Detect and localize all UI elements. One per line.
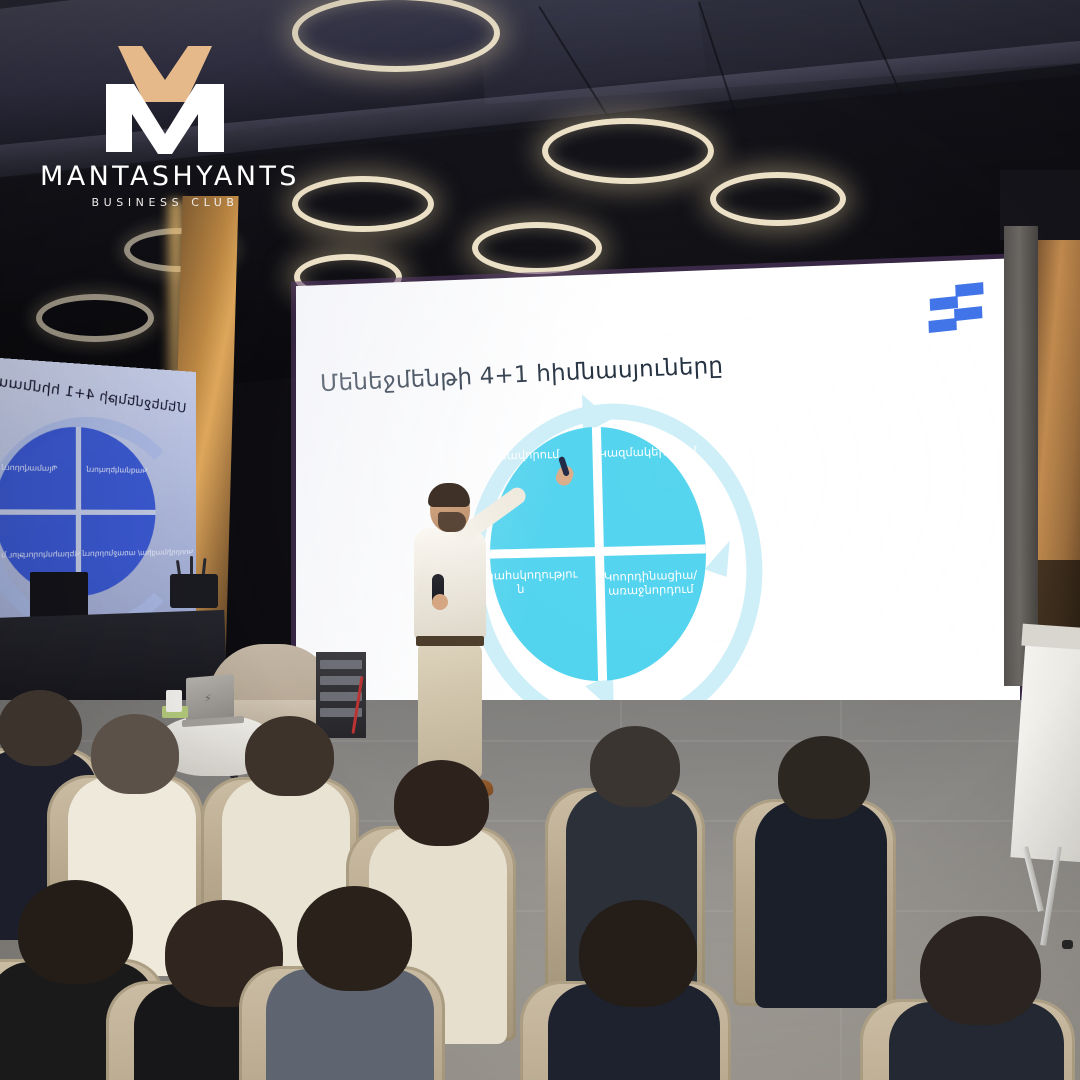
- presenter-hand: [432, 594, 448, 610]
- audience-head: [18, 880, 133, 984]
- watermark-logo: MANTASHYANTS BUSINESS CLUB: [40, 40, 290, 230]
- audience-head: [394, 760, 489, 846]
- audience-head: [590, 726, 680, 807]
- audience-head: [920, 916, 1041, 1025]
- watermark-brand-name: MANTASHYANTS: [40, 161, 290, 192]
- slide-brand-mark-icon: [929, 283, 985, 331]
- presenter-hair: [428, 483, 470, 507]
- secondary-quadrant-label-tl: Պլանավորում: [1, 463, 57, 473]
- secondary-quadrant-label-tr: Կազմակերպում: [86, 465, 147, 475]
- attendee-10: [540, 900, 877, 1080]
- watermark-tagline: BUSINESS CLUB: [40, 196, 290, 209]
- quadrant-label-organizing: Կազմակերպում: [597, 444, 697, 461]
- attendee-11: [880, 916, 1080, 1080]
- secondary-quadrant-label-bl: Վերահսկողությու ն: [1, 550, 80, 560]
- audience-head: [245, 716, 333, 796]
- conference-photo: Մենեջմենթի 4+1 հիմնասյուները Պլանավորում…: [0, 0, 1080, 1080]
- ring-light-4-icon: [710, 172, 846, 226]
- ring-light-7-icon: [36, 294, 154, 342]
- structural-column-right: [1004, 226, 1038, 686]
- monitor-left: [30, 572, 88, 618]
- presenter-beard: [438, 512, 466, 532]
- presenter-belt: [416, 636, 484, 646]
- ring-light-3-icon: [292, 176, 434, 232]
- audience-head: [579, 900, 697, 1007]
- secondary-screen-divider-h: [0, 509, 155, 515]
- router-device: [170, 574, 218, 608]
- audience-head: [778, 736, 869, 819]
- quadrant-label-planning: Պլանավորում: [467, 447, 567, 464]
- audience-head: [297, 886, 413, 991]
- audience-head: [91, 714, 179, 794]
- slide-title: Մենեջմենթի 4+1 հիմնասյուները: [320, 353, 724, 397]
- quadrant-label-coordinating: Կոորդինացիա/ առաջնորդում: [600, 568, 701, 599]
- ring-light-2-icon: [542, 118, 714, 184]
- mantashyants-monogram-icon: [90, 40, 240, 158]
- secondary-screen-title: Մենեջմենթի 4+1 հիմնասյուները: [0, 372, 187, 416]
